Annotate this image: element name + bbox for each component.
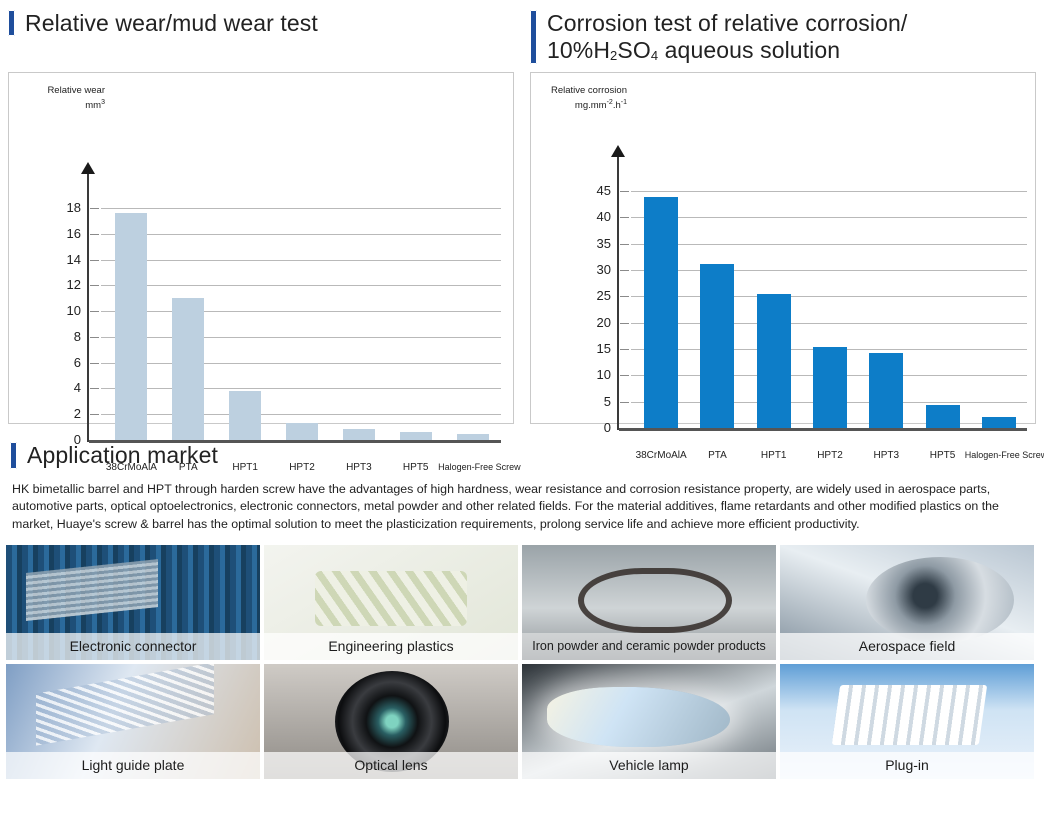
y-axis-tick: [90, 260, 99, 261]
wear-chart-heading: Relative wear/mud wear test: [8, 10, 514, 72]
y-axis-tick-label: 5: [573, 394, 611, 409]
application-gallery: Electronic connectorEngineering plastics…: [0, 545, 1044, 779]
y-axis-tick-label: 8: [43, 329, 81, 344]
y-axis-tick: [90, 208, 99, 209]
bar-halogen-free-screw: [457, 434, 489, 440]
y-axis-tick: [620, 375, 629, 376]
gallery-tile[interactable]: Iron powder and ceramic powder products: [522, 545, 776, 660]
x-axis-tick-label: Halogen-Free Screw: [438, 462, 507, 472]
bar-hpt1: [229, 391, 261, 440]
bar-hpt3: [869, 353, 903, 428]
y-axis-tick: [90, 388, 99, 389]
y-axis-line: [617, 157, 619, 430]
gallery-caption: Electronic connector: [6, 633, 260, 660]
gallery-tile[interactable]: Electronic connector: [6, 545, 260, 660]
gallery-tile[interactable]: Light guide plate: [6, 664, 260, 779]
gallery-caption: Engineering plastics: [264, 633, 518, 660]
gridline: [101, 311, 501, 312]
corrosion-chart-panel: Relative corrosion mg.mm-2.h-1 051015202…: [530, 72, 1036, 424]
corrosion-chart-title: Corrosion test of relative corrosion/ 10…: [547, 10, 907, 69]
charts-row: Relative wear/mud wear test Relative wea…: [0, 0, 1044, 424]
accent-bar-icon: [530, 10, 537, 64]
bar-hpt2: [813, 347, 847, 428]
gallery-caption: Vehicle lamp: [522, 752, 776, 779]
y-axis-tick: [90, 337, 99, 338]
gridline: [101, 363, 501, 364]
x-axis-baseline: [89, 440, 501, 443]
wear-chart-panel: Relative wear mm3 02468101214161838CrMoA…: [8, 72, 514, 424]
y-axis-tick-label: 16: [43, 226, 81, 241]
bar-38crmoala: [115, 213, 147, 440]
gridline: [631, 323, 1027, 324]
y-axis-tick: [90, 311, 99, 312]
y-axis-tick: [90, 285, 99, 286]
bar-hpt1: [757, 294, 791, 428]
gallery-tile[interactable]: Plug-in: [780, 664, 1034, 779]
gridline: [631, 296, 1027, 297]
bar-hpt5: [926, 405, 960, 428]
wear-plot-area: 02468101214161838CrMoAlAPTAHPT1HPT2HPT3H…: [9, 73, 513, 423]
y-axis-tick: [90, 414, 99, 415]
corrosion-title-line1: Corrosion test of relative corrosion/: [547, 10, 907, 36]
y-axis-tick: [90, 234, 99, 235]
gallery-tile[interactable]: Aerospace field: [780, 545, 1034, 660]
y-axis-tick-label: 15: [573, 341, 611, 356]
gridline: [631, 270, 1027, 271]
corrosion-chart-section: Corrosion test of relative corrosion/ 10…: [530, 10, 1036, 424]
y-axis-line: [87, 174, 89, 442]
y-axis-tick-label: 40: [573, 209, 611, 224]
y-axis-tick: [620, 323, 629, 324]
accent-bar-icon: [8, 10, 15, 36]
gridline: [631, 191, 1027, 192]
y-axis-tick: [90, 363, 99, 364]
y-axis-tick-label: 30: [573, 262, 611, 277]
gallery-caption: Iron powder and ceramic powder products: [522, 633, 776, 660]
y-axis-tick-label: 10: [43, 303, 81, 318]
y-axis-tick-label: 18: [43, 200, 81, 215]
gridline: [101, 260, 501, 261]
gridline: [101, 285, 501, 286]
gridline: [101, 234, 501, 235]
y-axis-tick: [620, 402, 629, 403]
y-axis-tick-label: 0: [43, 432, 81, 447]
y-axis-arrow-icon: [81, 162, 95, 174]
y-axis-tick: [620, 270, 629, 271]
y-axis-tick: [620, 296, 629, 297]
gridline: [101, 388, 501, 389]
y-axis-tick-label: 45: [573, 183, 611, 198]
accent-bar-icon: [10, 442, 17, 469]
corrosion-chart-heading: Corrosion test of relative corrosion/ 10…: [530, 10, 1036, 72]
gallery-caption: Aerospace field: [780, 633, 1034, 660]
y-axis-tick-label: 25: [573, 288, 611, 303]
y-axis-tick: [620, 244, 629, 245]
gallery-caption: Optical lens: [264, 752, 518, 779]
gallery-caption: Light guide plate: [6, 752, 260, 779]
y-axis-tick-label: 35: [573, 236, 611, 251]
bar-pta: [172, 298, 204, 440]
y-axis-tick-label: 0: [573, 420, 611, 435]
bar-hpt3: [343, 429, 375, 440]
gallery-tile[interactable]: Vehicle lamp: [522, 664, 776, 779]
y-axis-tick: [620, 217, 629, 218]
gridline: [101, 337, 501, 338]
wear-chart-title: Relative wear/mud wear test: [25, 10, 318, 37]
corrosion-title-line2: 10%H2SO4 aqueous solution: [547, 37, 840, 63]
x-axis-baseline: [619, 428, 1027, 431]
bar-38crmoala: [644, 197, 678, 428]
bar-pta: [700, 264, 734, 428]
gallery-tile[interactable]: Engineering plastics: [264, 545, 518, 660]
y-axis-tick-label: 12: [43, 277, 81, 292]
gallery-caption: Plug-in: [780, 752, 1034, 779]
y-axis-tick-label: 14: [43, 252, 81, 267]
x-axis-tick-label: Halogen-Free Screw: [965, 450, 1033, 460]
bar-hpt2: [286, 423, 318, 440]
y-axis-tick: [620, 191, 629, 192]
corrosion-plot-area: 05101520253035404538CrMoAlAPTAHPT1HPT2HP…: [531, 73, 1035, 423]
y-axis-tick-label: 4: [43, 380, 81, 395]
application-market-paragraph: HK bimetallic barrel and HPT through har…: [12, 481, 1030, 533]
y-axis-tick-label: 6: [43, 355, 81, 370]
wear-chart-section: Relative wear/mud wear test Relative wea…: [8, 10, 514, 424]
gallery-tile[interactable]: Optical lens: [264, 664, 518, 779]
y-axis-tick: [620, 349, 629, 350]
bar-hpt5: [400, 432, 432, 440]
gridline: [631, 217, 1027, 218]
gridline: [101, 414, 501, 415]
y-axis-arrow-icon: [611, 145, 625, 157]
y-axis-tick-label: 20: [573, 315, 611, 330]
y-axis-tick-label: 2: [43, 406, 81, 421]
gridline: [101, 208, 501, 209]
gridline: [631, 244, 1027, 245]
y-axis-tick-label: 10: [573, 367, 611, 382]
bar-halogen-free-screw: [982, 417, 1016, 428]
